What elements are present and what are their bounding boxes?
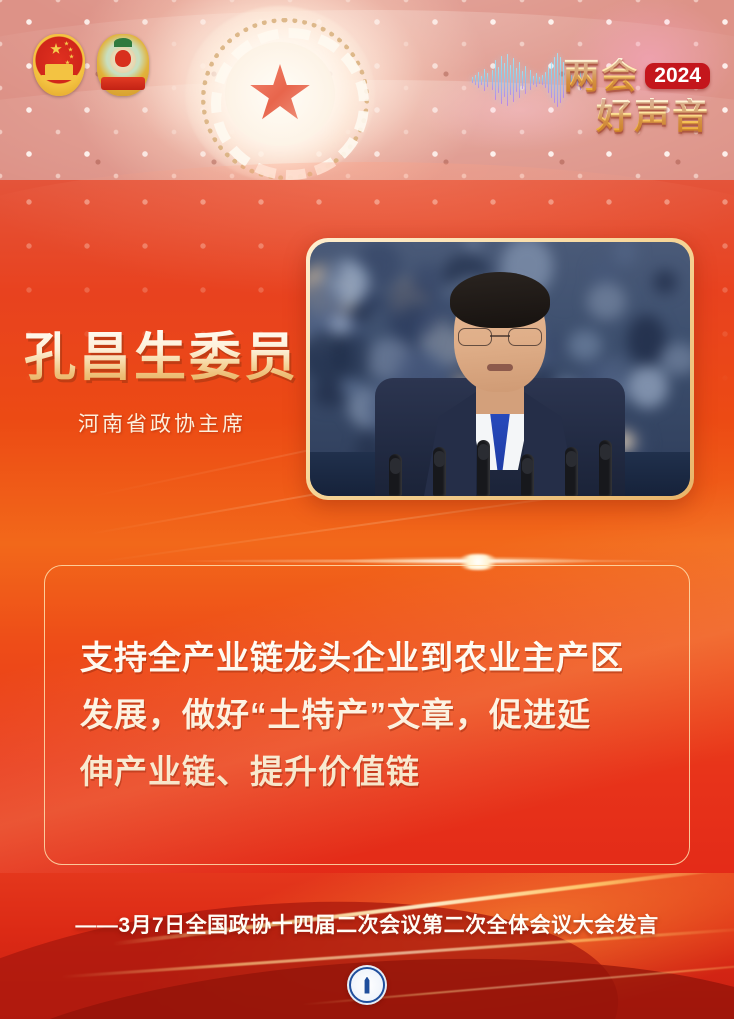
microphone-row — [385, 434, 615, 496]
quote-text: 支持全产业链龙头企业到农业主产区发展，做好“土特产”文章，促进延伸产业链、提升价… — [80, 630, 680, 800]
quote-line: 发展，做好“土特产”文章，促进延 — [80, 687, 680, 744]
cppcc-emblem-icon — [97, 34, 149, 96]
microphone — [599, 440, 612, 496]
publisher-round-emblem-icon — [347, 965, 387, 1005]
microphone — [477, 440, 490, 496]
quote-line: 伸产业链、提升价值链 — [80, 744, 680, 801]
speaker-portrait-frame — [306, 238, 694, 500]
speaker-role: 河南省政协主席 — [78, 408, 246, 438]
footer-ribbon: ——3月7日全国政协十四届二次会议第二次全体会议大会发言 — [0, 873, 734, 1019]
hair — [450, 272, 550, 328]
program-logo: 两会 2024 好声音 — [548, 58, 710, 154]
poster-root: 两会 2024 好声音 — [0, 0, 734, 1019]
logo-text-haoshengyin: 好声音 — [596, 98, 710, 134]
microphone — [389, 454, 402, 496]
eyeglasses-icon — [458, 328, 542, 344]
great-hall-ceiling-star-icon — [185, 6, 375, 182]
microphone — [521, 454, 534, 496]
logo-text-lianghui: 两会 — [563, 58, 639, 94]
speaker-portrait — [310, 242, 690, 496]
microphone — [565, 447, 578, 496]
quote-line: 支持全产业链龙头企业到农业主产区 — [80, 630, 680, 687]
mouth — [487, 364, 513, 371]
header-banner: 两会 2024 好声音 — [0, 0, 734, 186]
logo-year-badge: 2024 — [645, 63, 710, 89]
speaker-name: 孔昌生委员 — [24, 330, 299, 387]
footer-caption: ——3月7日全国政协十四届二次会议第二次全体会议大会发言 — [0, 909, 734, 939]
national-emblem-icon — [33, 34, 85, 96]
microphone — [433, 447, 446, 496]
